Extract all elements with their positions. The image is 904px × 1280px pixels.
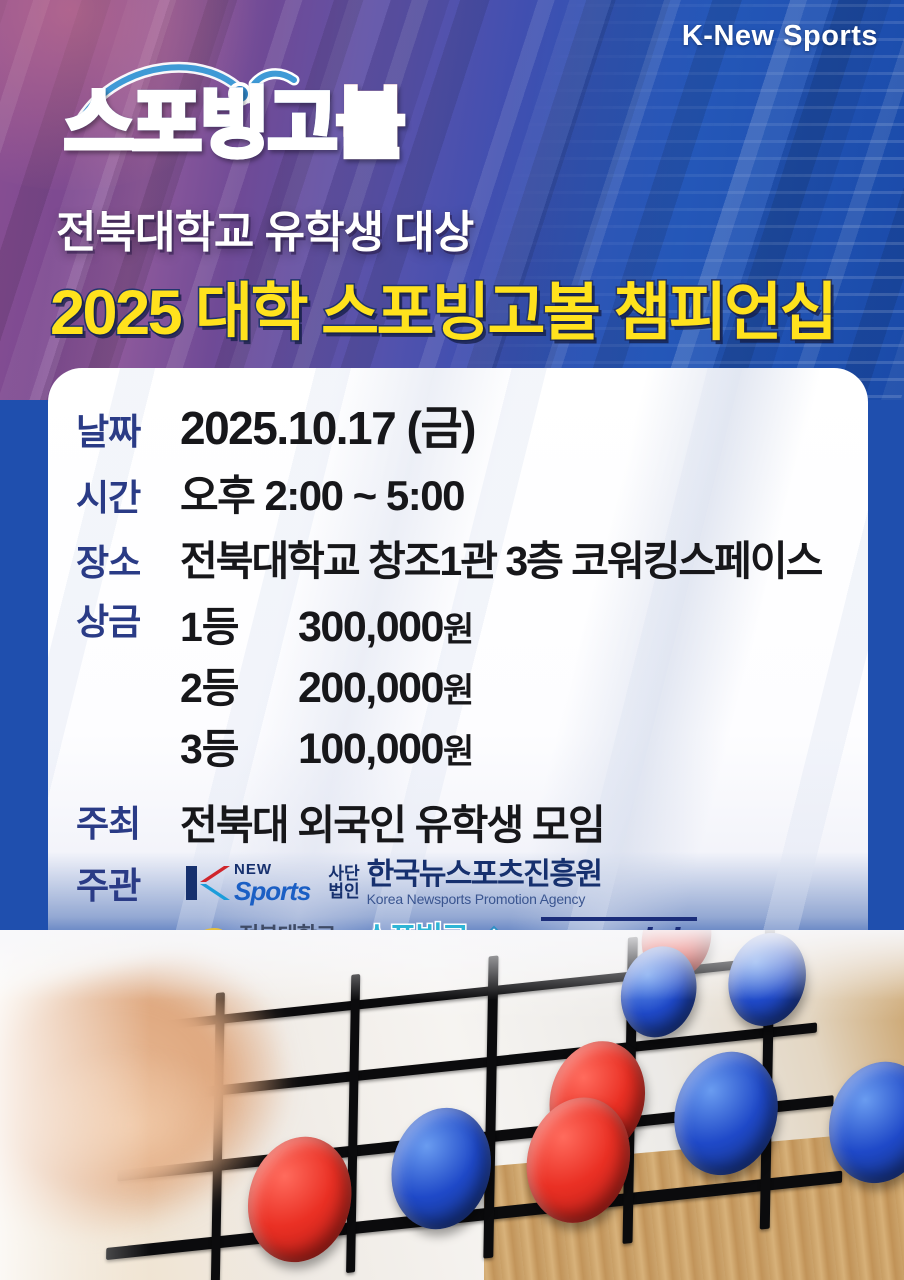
game-ball-red xyxy=(526,1092,632,1228)
info-row-place: 장소 전북대학교 창조1관 3층 코워킹스페이스 xyxy=(76,527,858,587)
event-info-card: 날짜 2025.10.17 (금) 시간 오후 2:00 ~ 5:00 장소 전… xyxy=(48,368,868,958)
prize-amount-unit: 원 xyxy=(443,733,473,771)
logo-wordmark-blue: 스포빙고 xyxy=(64,79,336,168)
info-row-host: 주최 전북대 외국인 유학생 모임 xyxy=(76,791,858,851)
knew-sports-logo: NEW Sports xyxy=(184,862,310,904)
info-row-time: 시간 오후 2:00 ~ 5:00 xyxy=(76,462,858,523)
place-value: 전북대학교 창조1관 3층 코워킹스페이스 xyxy=(180,527,821,587)
prize-rank: 3등 xyxy=(180,715,298,775)
sadan-line1: 사단 xyxy=(328,865,359,883)
logo-wordmark: 스포빙고볼 xyxy=(64,86,404,162)
spobingo-game-photo xyxy=(0,930,904,1280)
kns-english-name: Korea Newsports Promotion Agency xyxy=(367,892,602,907)
info-row-date: 날짜 2025.10.17 (금) xyxy=(76,392,858,458)
prize-amount-unit: 원 xyxy=(443,672,473,710)
prize-item: 2등 200,000원 xyxy=(180,654,473,714)
sadan-line2: 법인 xyxy=(328,883,359,901)
date-label: 날짜 xyxy=(76,403,180,455)
kns-names: 한국뉴스포츠진흥원 Korea Newsports Promotion Agen… xyxy=(367,859,602,907)
prize-amount-unit: 원 xyxy=(443,611,473,649)
corner-brand-wordmark: K-New Sports xyxy=(682,20,878,53)
prize-list: 1등 300,000원 2등 200,000원 3등 100,000원 xyxy=(180,593,473,775)
game-ball-blue xyxy=(828,1057,904,1189)
logo-wordmark-orange: 볼 xyxy=(336,79,404,168)
knew-sports-text: NEW Sports xyxy=(234,862,310,904)
info-row-prize: 상금 1등 300,000원 2등 200,000원 3등 100,000원 xyxy=(76,593,858,775)
prize-amount-number: 300,000 xyxy=(298,603,443,651)
korea-newsports-promotion-agency-logo: 사단 법인 한국뉴스포츠진흥원 Korea Newsports Promotio… xyxy=(328,859,601,907)
place-label: 장소 xyxy=(76,534,180,586)
prize-amount-number: 100,000 xyxy=(298,725,443,773)
knew-sports-sports-text: Sports xyxy=(234,878,310,904)
prize-rank: 2등 xyxy=(180,654,298,714)
sadan-beopin-text: 사단 법인 xyxy=(328,865,359,901)
prize-item: 1등 300,000원 xyxy=(180,593,473,653)
time-value: 오후 2:00 ~ 5:00 xyxy=(180,462,464,523)
prize-rank: 1등 xyxy=(180,593,298,653)
event-poster: K-New Sports 스포빙고볼 전북대학교 유학생 대상 2025 대학 … xyxy=(0,0,904,1280)
spobingoball-logo: 스포빙고볼 xyxy=(58,58,448,176)
time-label: 시간 xyxy=(76,469,180,521)
prize-amount: 300,000원 xyxy=(298,602,473,652)
kns-korean-name: 한국뉴스포츠진흥원 xyxy=(367,859,602,891)
prize-amount: 100,000원 xyxy=(298,724,473,774)
host-value: 전북대 외국인 유학생 모임 xyxy=(180,791,604,851)
organizer-label: 주관 xyxy=(76,857,180,909)
prize-amount: 200,000원 xyxy=(298,663,473,713)
poster-main-title: 2025 대학 스포빙고볼 챔피언십 xyxy=(50,262,870,353)
prize-item: 3등 100,000원 xyxy=(180,715,473,775)
prize-label: 상금 xyxy=(76,593,180,645)
photo-top-fade-overlay xyxy=(0,930,904,1000)
knew-sports-new-text: NEW xyxy=(234,862,310,877)
prize-amount-number: 200,000 xyxy=(298,664,443,712)
info-row-organizer: 주관 NEW Sports 사단 법인 xyxy=(76,857,858,909)
date-value: 2025.10.17 (금) xyxy=(180,392,475,458)
host-label: 주최 xyxy=(76,795,180,847)
poster-subtitle: 전북대학교 유학생 대상 xyxy=(56,196,473,260)
knew-sports-k-mark-icon xyxy=(184,863,230,903)
event-info-rows: 날짜 2025.10.17 (금) 시간 오후 2:00 ~ 5:00 장소 전… xyxy=(76,392,858,958)
